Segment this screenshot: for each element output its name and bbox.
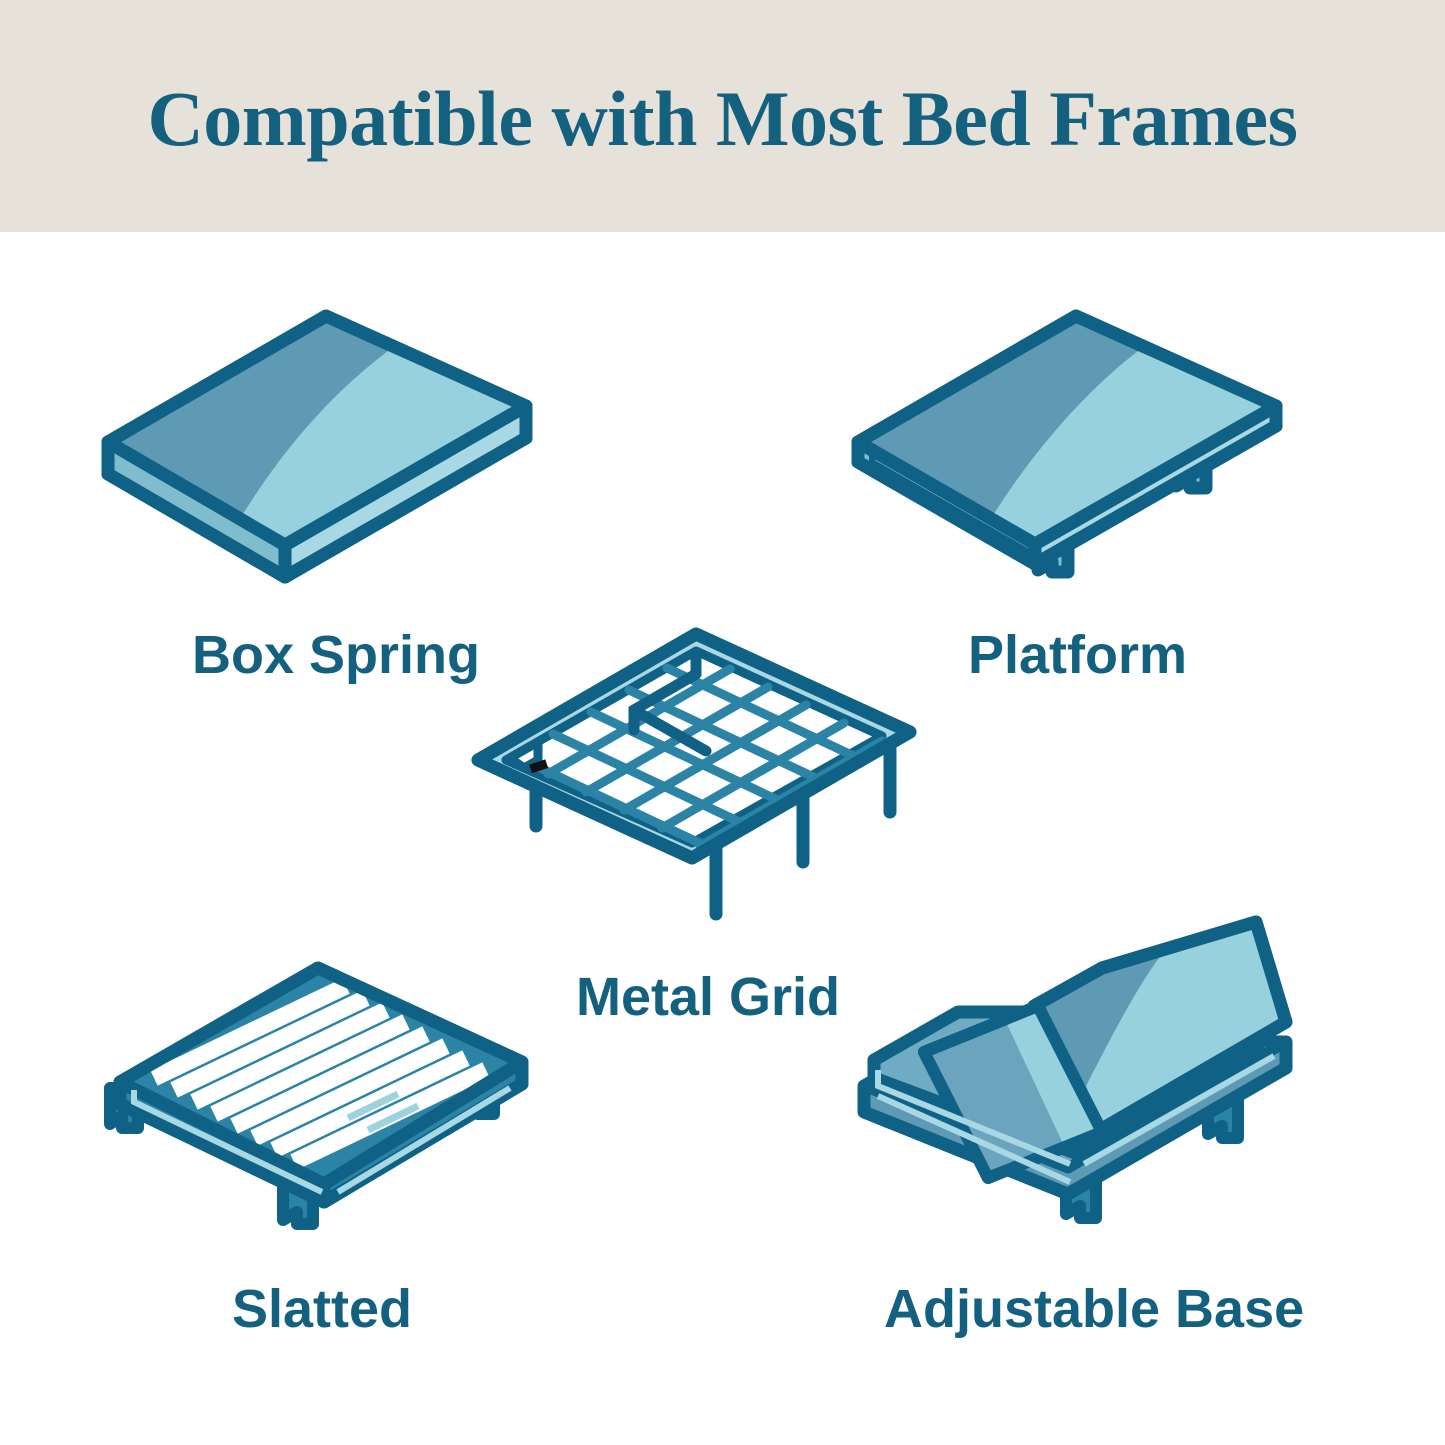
label-slatted: Slatted: [232, 1282, 412, 1336]
box-spring-illustration: [88, 296, 578, 596]
label-adjustable-base: Adjustable Base: [884, 1282, 1304, 1336]
label-metal-grid: Metal Grid: [576, 970, 840, 1024]
label-box-spring: Box Spring: [192, 628, 480, 682]
header-band: Compatible with Most Bed Frames: [0, 0, 1445, 232]
infographic-page: Compatible with Most Bed Frames: [0, 0, 1445, 1445]
metal-grid-illustration: [458, 614, 948, 944]
page-title: Compatible with Most Bed Frames: [147, 80, 1297, 158]
label-platform: Platform: [968, 628, 1187, 682]
slatted-illustration: [98, 952, 558, 1252]
adjustable-base-illustration: [838, 910, 1328, 1250]
platform-illustration: [838, 296, 1328, 596]
